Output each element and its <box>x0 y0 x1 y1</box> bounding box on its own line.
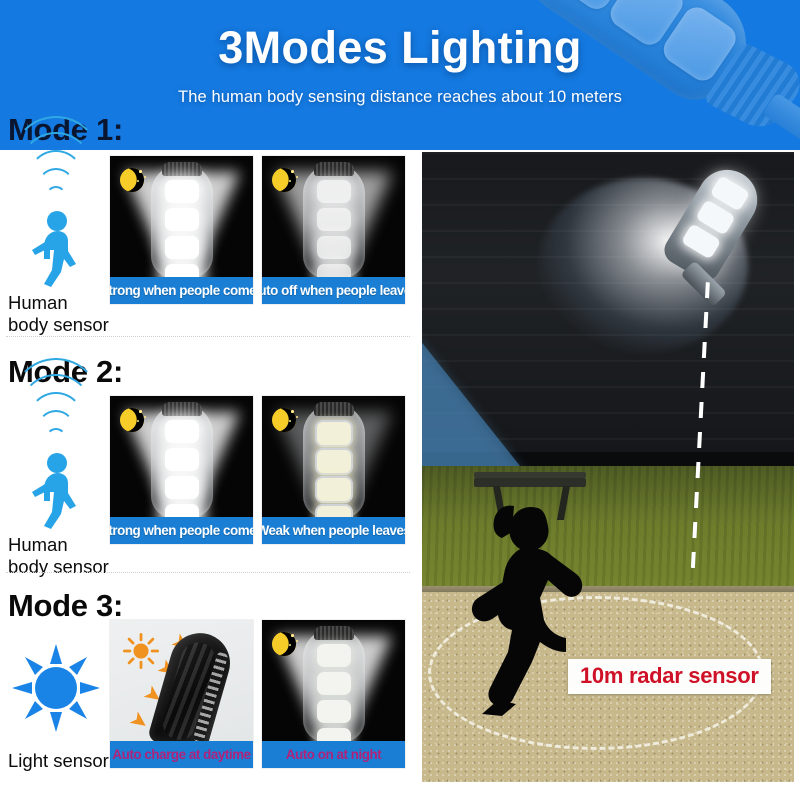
mode-3-photo-daytime: ➤ ➤ ➤ ➤ Auto charge at daytime <box>110 620 253 768</box>
lamp-heatsink-cap <box>162 162 202 176</box>
lamp-heatsink-cap <box>314 626 354 640</box>
radar-wave-icon <box>14 402 98 448</box>
mode-2-photo-strong: Strong when people comes <box>110 396 253 544</box>
led-module <box>165 208 199 231</box>
lamp-heatsink-cap <box>162 402 202 416</box>
mode-1-caption-strong: Strong when people comes <box>110 277 253 304</box>
lamp-heatsink-cap <box>314 162 354 176</box>
mode-1-photo-strong: Strong when people comes <box>110 156 253 304</box>
night-scene-photo: 10m radar sensor <box>422 152 794 782</box>
radar-range-badge: 10m radar sensor <box>568 659 771 694</box>
mode-2-caption-weak: Weak when people leaves <box>262 517 405 544</box>
led-module <box>165 180 199 203</box>
lamp-heatsink-cap <box>314 402 354 416</box>
walking-person-icon <box>27 452 85 530</box>
led-module <box>317 208 351 231</box>
moon-icon <box>272 632 300 660</box>
mode-1-caption-off: Auto off when people leaves <box>262 277 405 304</box>
section-divider <box>6 572 410 573</box>
led-module <box>165 236 199 259</box>
led-module <box>317 180 351 203</box>
infographic-page: 3Modes Lighting The human body sensing d… <box>0 0 800 800</box>
led-module <box>165 476 199 499</box>
led-module <box>165 420 199 443</box>
mode-3-sensor-label: Light sensor <box>6 750 106 772</box>
mode-3-photo-night: Auto on at night <box>262 620 405 768</box>
led-module <box>315 420 353 447</box>
led-module <box>315 448 353 475</box>
page-subtitle: The human body sensing distance reaches … <box>0 88 800 107</box>
led-module <box>315 476 353 503</box>
moon-icon <box>272 408 300 436</box>
page-title: 3Modes Lighting <box>0 22 800 74</box>
walking-person-icon <box>27 210 85 288</box>
mode-1-block: Human body sensor Strong when people com… <box>0 152 418 334</box>
led-module <box>317 236 351 259</box>
mode-3-sensor-column: Light sensor <box>6 634 106 772</box>
mode-3-caption-daytime: Auto charge at daytime <box>110 741 253 768</box>
mode-2-block: Mode 2: Human body sensor <box>0 354 418 564</box>
led-module <box>317 700 351 723</box>
section-divider <box>6 336 410 337</box>
sun-icon <box>8 640 104 736</box>
mode-1-photo-off: Auto off when people leaves <box>262 156 405 304</box>
mode-2-sensor-column: Human body sensor <box>6 402 106 578</box>
mode-3-caption-night: Auto on at night <box>262 741 405 768</box>
sun-icon <box>122 632 160 670</box>
moon-icon <box>120 408 148 436</box>
moon-icon <box>272 168 300 196</box>
mode-1-sensor-column: Human body sensor <box>6 160 106 336</box>
mode-2-photo-weak: Weak when people leaves <box>262 396 405 544</box>
header-banner: 3Modes Lighting The human body sensing d… <box>0 0 800 150</box>
mode-2-caption-strong: Strong when people comes <box>110 517 253 544</box>
mode-1-sensor-label: Human body sensor <box>6 292 106 336</box>
led-module <box>165 448 199 471</box>
radar-wave-icon <box>14 160 98 206</box>
mode-3-heading: Mode 3: <box>8 588 123 624</box>
led-module <box>317 672 351 695</box>
led-module <box>317 644 351 667</box>
moon-icon <box>120 168 148 196</box>
mode-3-block: Mode 3: Light sensor <box>0 588 418 788</box>
